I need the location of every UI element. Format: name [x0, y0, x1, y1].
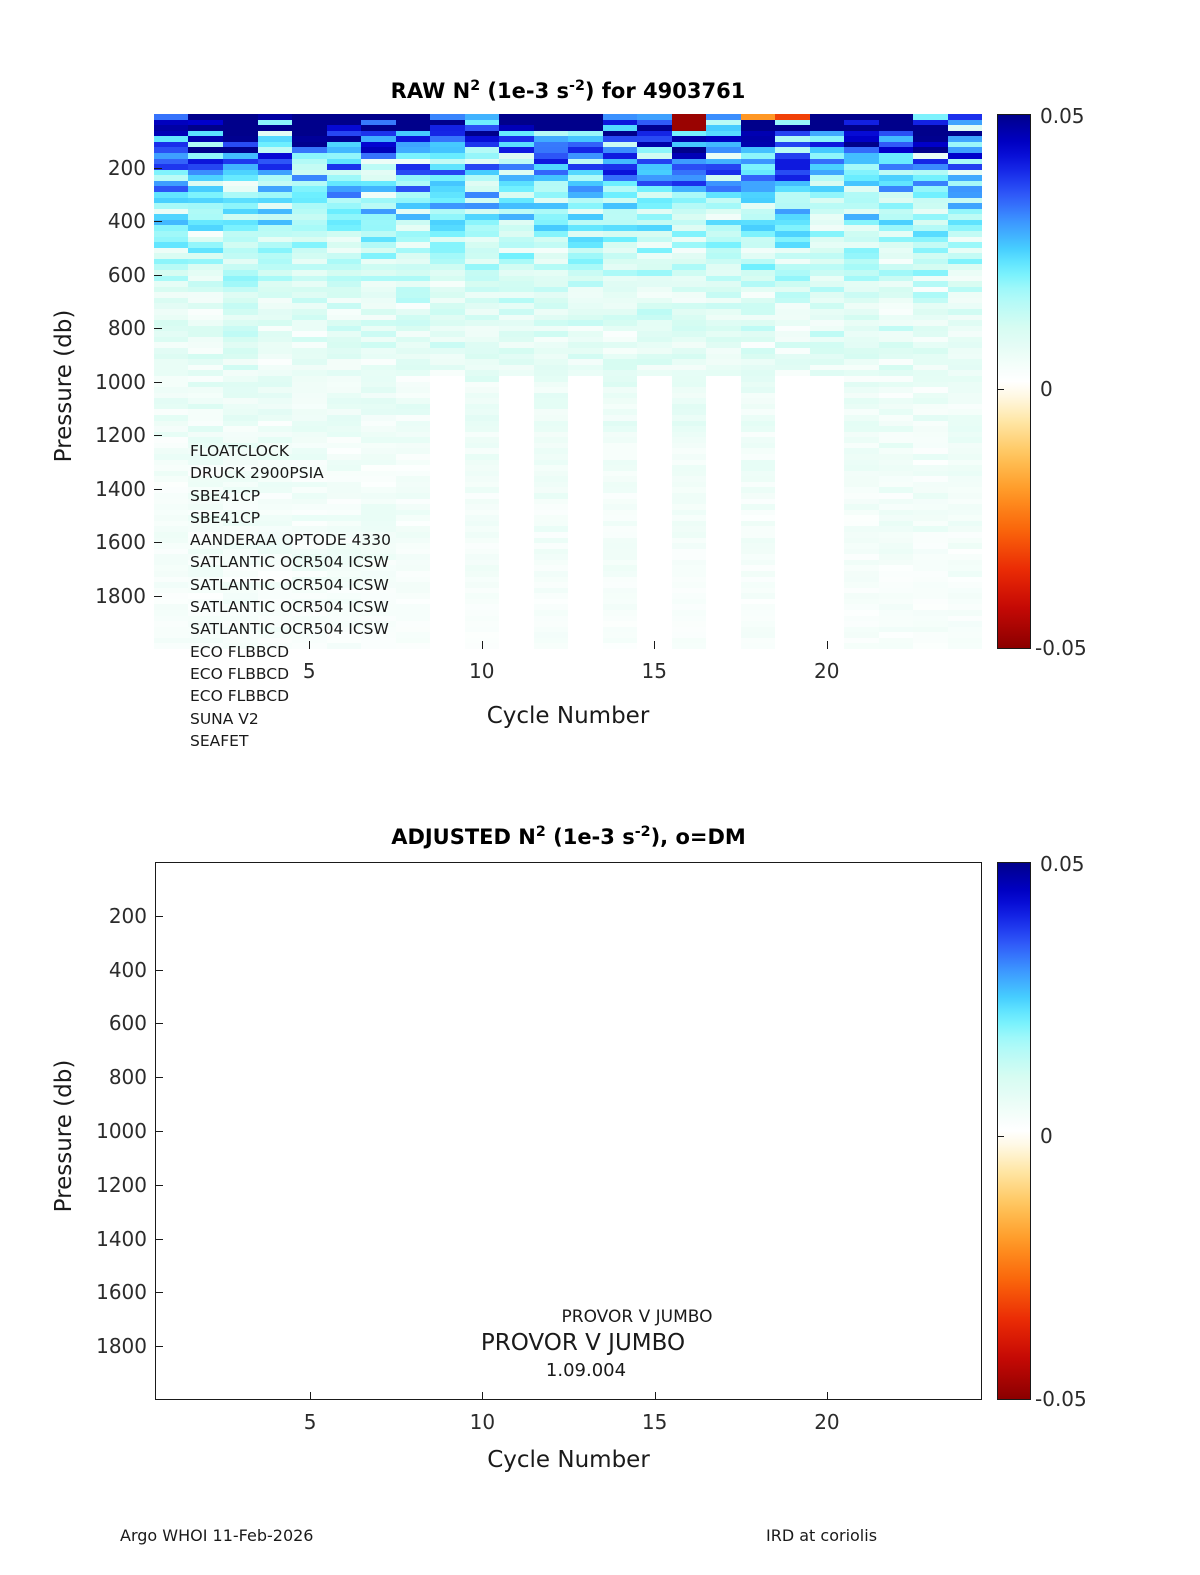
- x-tick-label: 15: [642, 1410, 667, 1434]
- y-tick-mark: [154, 275, 162, 276]
- x-tick-label: 20: [814, 1410, 839, 1434]
- sensor-list-item: SATLANTIC OCR504 ICSW: [190, 596, 391, 618]
- heatmap-column: [603, 114, 638, 649]
- sensor-list-item: FLOATCLOCK: [190, 440, 391, 462]
- heatmap-column: [568, 114, 603, 649]
- heatmap-column: [396, 114, 431, 649]
- sensor-list-item: SATLANTIC OCR504 ICSW: [190, 618, 391, 640]
- raw-title-mid: (1e-3 s: [480, 79, 569, 103]
- sensor-list-item: SATLANTIC OCR504 ICSW: [190, 574, 391, 596]
- footer-left: Argo WHOI 11-Feb-2026: [120, 1526, 313, 1545]
- y-tick-mark: [155, 1292, 163, 1293]
- heatmap-cell: [741, 643, 776, 649]
- adjusted-title-suffix: ), o=DM: [651, 825, 746, 849]
- y-tick-label: 1400: [63, 1227, 147, 1251]
- y-tick-mark: [154, 168, 162, 169]
- sensor-list-item: ECO FLBBCD: [190, 685, 391, 707]
- adjusted-colorbar-max-label: 0.05: [1040, 852, 1085, 876]
- heatmap-column: [534, 114, 569, 649]
- heatmap-cell: [810, 370, 845, 376]
- raw-colorbar-min-label: -0.05: [1035, 636, 1087, 660]
- x-tick-label: 20: [814, 659, 839, 683]
- adjusted-title-sup1: 2: [536, 824, 546, 840]
- y-tick-mark: [155, 916, 163, 917]
- heatmap-column: [499, 114, 534, 649]
- y-tick-mark: [154, 382, 162, 383]
- heatmap-column: [465, 114, 500, 649]
- footer-right: IRD at coriolis: [766, 1526, 877, 1545]
- float-model-small: PROVOR V JUMBO: [562, 1307, 713, 1327]
- heatmap-column: [810, 114, 845, 649]
- y-tick-mark: [155, 1077, 163, 1078]
- heatmap-column: [913, 114, 948, 649]
- float-firmware-version: 1.09.004: [546, 1360, 626, 1381]
- x-tick-label: 10: [470, 1410, 495, 1434]
- heatmap-cell: [430, 370, 465, 376]
- heatmap-cell: [775, 370, 810, 376]
- raw-colorbar-max-label: 0.05: [1040, 104, 1085, 128]
- y-tick-mark: [155, 1239, 163, 1240]
- sensor-list-item: AANDERAA OPTODE 4330: [190, 529, 391, 551]
- sensor-list-item: SEAFET: [190, 730, 391, 752]
- x-tick-mark: [827, 1392, 828, 1400]
- heatmap-cell: [672, 643, 707, 649]
- heatmap-column: [775, 114, 810, 649]
- adjusted-panel-title: ADJUSTED N2 (1e-3 s-2), o=DM: [155, 824, 982, 849]
- heatmap-column: [844, 114, 879, 649]
- heatmap-cell: [844, 643, 879, 649]
- raw-colorbar-zero-tick: [997, 389, 1004, 390]
- x-tick-mark: [655, 1392, 656, 1400]
- raw-y-axis-label: Pressure (db): [51, 306, 77, 466]
- y-tick-label: 600: [63, 1011, 147, 1035]
- heatmap-cell: [396, 643, 431, 649]
- y-tick-label: 400: [62, 209, 146, 233]
- raw-colorbar[interactable]: [997, 114, 1031, 649]
- sensor-list-item: SATLANTIC OCR504 ICSW: [190, 551, 391, 573]
- adjusted-title-sup2: -2: [635, 824, 651, 840]
- y-tick-label: 1400: [62, 477, 146, 501]
- adjusted-x-axis-label: Cycle Number: [155, 1447, 982, 1473]
- adjusted-y-axis-label: Pressure (db): [51, 1056, 77, 1216]
- heatmap-cell: [706, 370, 741, 376]
- y-tick-label: 200: [63, 904, 147, 928]
- heatmap-cell: [603, 643, 638, 649]
- adjusted-title-prefix: ADJUSTED N: [391, 825, 536, 849]
- x-tick-label: 15: [642, 659, 667, 683]
- sensor-list-item: SBE41CP: [190, 507, 391, 529]
- x-tick-mark: [654, 641, 655, 649]
- heatmap-column: [948, 114, 983, 649]
- heatmap-column: [879, 114, 914, 649]
- x-tick-mark: [482, 641, 483, 649]
- heatmap-cell: [154, 643, 189, 649]
- x-tick-mark: [827, 641, 828, 649]
- heatmap-column: [637, 114, 672, 649]
- raw-title-sup1: 2: [470, 78, 480, 94]
- x-tick-mark: [310, 1392, 311, 1400]
- y-tick-label: 200: [62, 156, 146, 180]
- y-tick-mark: [154, 328, 162, 329]
- y-tick-mark: [154, 542, 162, 543]
- heatmap-cell: [499, 370, 534, 376]
- adjusted-title-mid: (1e-3 s: [546, 825, 635, 849]
- sensor-list-item: DRUCK 2900PSIA: [190, 462, 391, 484]
- sensor-list-item: ECO FLBBCD: [190, 641, 391, 663]
- heatmap-cell: [879, 643, 914, 649]
- raw-panel-title: RAW N2 (1e-3 s-2) for 4903761: [154, 78, 982, 103]
- heatmap-column: [672, 114, 707, 649]
- heatmap-cell: [534, 643, 569, 649]
- raw-title-sup2: -2: [569, 78, 585, 94]
- raw-colorbar-zero-label: 0: [1040, 377, 1053, 401]
- y-tick-mark: [154, 435, 162, 436]
- x-tick-label: 5: [304, 1410, 317, 1434]
- heatmap-cell: [568, 370, 603, 376]
- y-tick-mark: [154, 596, 162, 597]
- adjusted-colorbar-zero-tick: [997, 1136, 1004, 1137]
- adjusted-colorbar-min-label: -0.05: [1035, 1387, 1087, 1411]
- y-tick-label: 400: [63, 958, 147, 982]
- heatmap-cell: [913, 643, 948, 649]
- y-tick-mark: [154, 221, 162, 222]
- sensor-list: FLOATCLOCKDRUCK 2900PSIASBE41CPSBE41CPAA…: [190, 440, 391, 752]
- heatmap-cell: [948, 643, 983, 649]
- sensor-list-item: ECO FLBBCD: [190, 663, 391, 685]
- y-tick-mark: [155, 1185, 163, 1186]
- heatmap-column: [706, 114, 741, 649]
- heatmap-cell: [637, 370, 672, 376]
- adjusted-colorbar[interactable]: [997, 862, 1031, 1400]
- sensor-list-item: SUNA V2: [190, 708, 391, 730]
- y-tick-label: 1600: [62, 530, 146, 554]
- sensor-list-item: SBE41CP: [190, 485, 391, 507]
- y-tick-mark: [155, 1131, 163, 1132]
- raw-title-prefix: RAW N: [391, 79, 471, 103]
- y-tick-label: 600: [62, 263, 146, 287]
- y-tick-label: 1600: [63, 1280, 147, 1304]
- x-tick-mark: [482, 1392, 483, 1400]
- float-model-large: PROVOR V JUMBO: [481, 1330, 685, 1356]
- y-tick-mark: [155, 1023, 163, 1024]
- y-tick-mark: [154, 489, 162, 490]
- adjusted-colorbar-zero-label: 0: [1040, 1124, 1053, 1148]
- y-tick-mark: [155, 970, 163, 971]
- raw-title-suffix: ) for 4903761: [585, 79, 745, 103]
- heatmap-column: [430, 114, 465, 649]
- y-tick-label: 1800: [62, 584, 146, 608]
- y-tick-label: 1800: [63, 1334, 147, 1358]
- heatmap-column: [741, 114, 776, 649]
- y-tick-mark: [155, 1346, 163, 1347]
- x-tick-label: 10: [469, 659, 494, 683]
